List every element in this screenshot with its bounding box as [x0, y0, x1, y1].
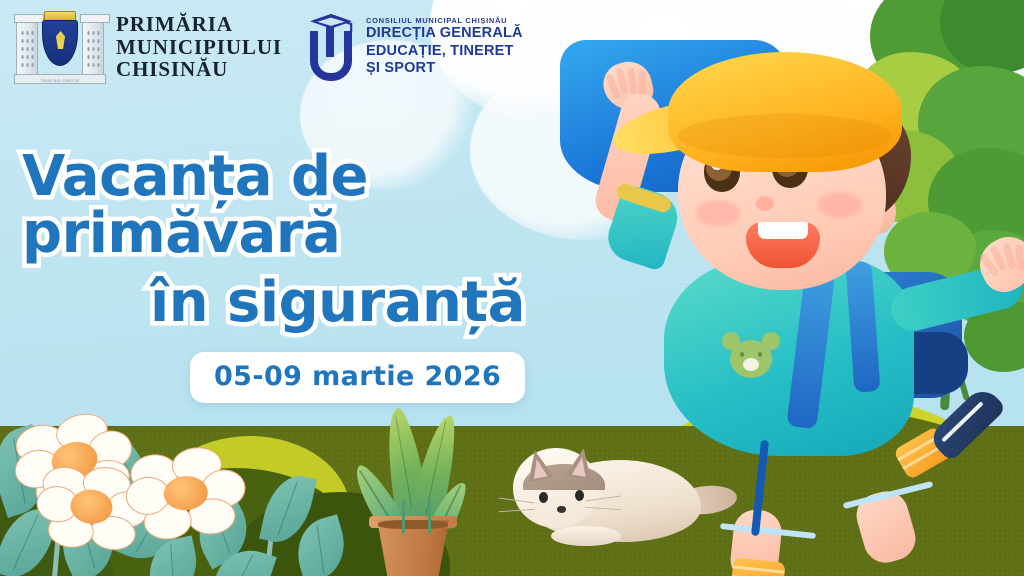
potted-plant	[336, 404, 506, 576]
graduation-cap-monogram-icon	[305, 13, 357, 83]
headline-line-2: în siguranță	[0, 274, 660, 331]
logo-primaria-municipiului-chisinau: TRUD NOI CRESTE PRIMĂRIA MUNICIPIULUI CH…	[14, 10, 282, 84]
date-badge-text: 05-09 martie 2026	[214, 361, 501, 392]
logo-secondary-wordmark: CONSILIUL MUNICIPAL CHIȘINĂU DIRECȚIA GE…	[366, 13, 523, 78]
logo-secondary-line-1: DIRECȚIA GENERALĂ	[366, 25, 523, 43]
logo-secondary-eyebrow: CONSILIUL MUNICIPAL CHIȘINĂU	[366, 16, 523, 25]
chisinau-coat-of-arms-icon: TRUD NOI CRESTE	[14, 10, 106, 84]
boy-blush-left	[696, 200, 740, 226]
boy-nose	[756, 196, 774, 211]
logo-primary-line-2: MUNICIPIULUI	[116, 36, 282, 58]
daisy-flower	[123, 444, 253, 548]
shirt-bear-motif	[720, 332, 782, 386]
cat-eye-left	[539, 492, 548, 503]
headline-line-1: Vacanța de primăvară	[0, 148, 660, 262]
crest-motto: TRUD NOI CRESTE	[14, 79, 106, 83]
cap-shadow	[678, 114, 892, 158]
logo-primary-line-1: PRIMĂRIA	[116, 13, 282, 35]
boy-blush-right	[818, 192, 862, 218]
logo-primary-line-3: CHISINĂU	[116, 58, 282, 80]
header-logos: TRUD NOI CRESTE PRIMĂRIA MUNICIPIULUI CH…	[0, 0, 1024, 105]
logo-secondary-line-2: EDUCAȚIE, TINERET	[366, 43, 523, 61]
headline: Vacanța de primăvară în siguranță	[0, 148, 660, 331]
boy-mouth	[746, 222, 820, 268]
poster-canvas: Vacanța de primăvară în siguranță 05-09 …	[0, 0, 1024, 576]
logo-directia-generala-educatie: CONSILIUL MUNICIPAL CHIȘINĂU DIRECȚIA GE…	[305, 13, 523, 83]
logo-primary-wordmark: PRIMĂRIA MUNICIPIULUI CHISINĂU	[116, 13, 282, 80]
logo-secondary-line-3: ȘI SPORT	[366, 60, 523, 78]
date-badge: 05-09 martie 2026	[190, 352, 525, 403]
